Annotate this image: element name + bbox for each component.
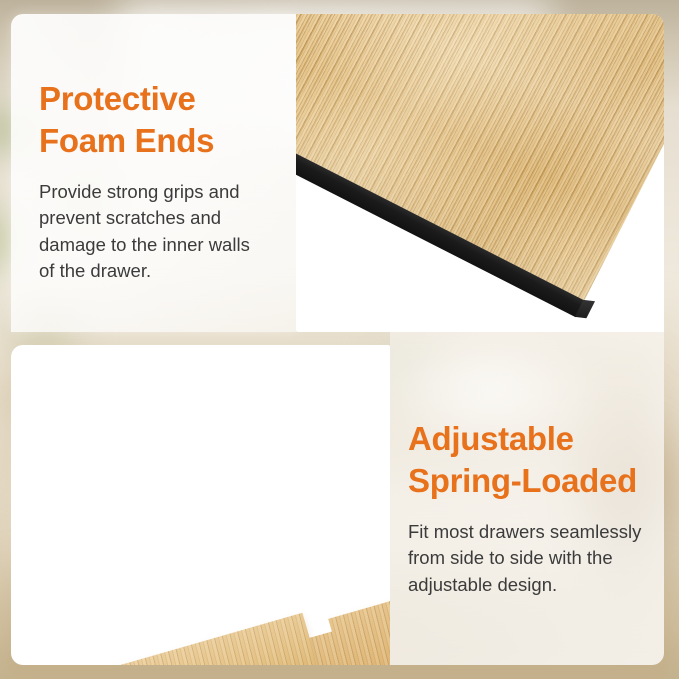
adjustable-spring-loaded-headline: Adjustable Spring-Loaded [408, 418, 637, 502]
product-infographic: Protective Foam Ends Provide strong grip… [0, 0, 679, 679]
spring-loaded-divider-scene [11, 345, 390, 665]
bamboo-board-scene [296, 14, 664, 332]
adjustable-spring-loaded-body: Fit most drawers seamlessly from side to… [408, 519, 654, 598]
protective-foam-ends-body: Provide strong grips and prevent scratch… [39, 179, 277, 284]
bottom-left-product-photo [11, 345, 390, 665]
top-right-product-photo [296, 14, 664, 332]
protective-foam-ends-headline: Protective Foam Ends [39, 78, 214, 162]
bamboo-board [296, 14, 664, 300]
top-left-text-panel [11, 14, 296, 332]
slotted-sliding-arm [52, 613, 325, 665]
